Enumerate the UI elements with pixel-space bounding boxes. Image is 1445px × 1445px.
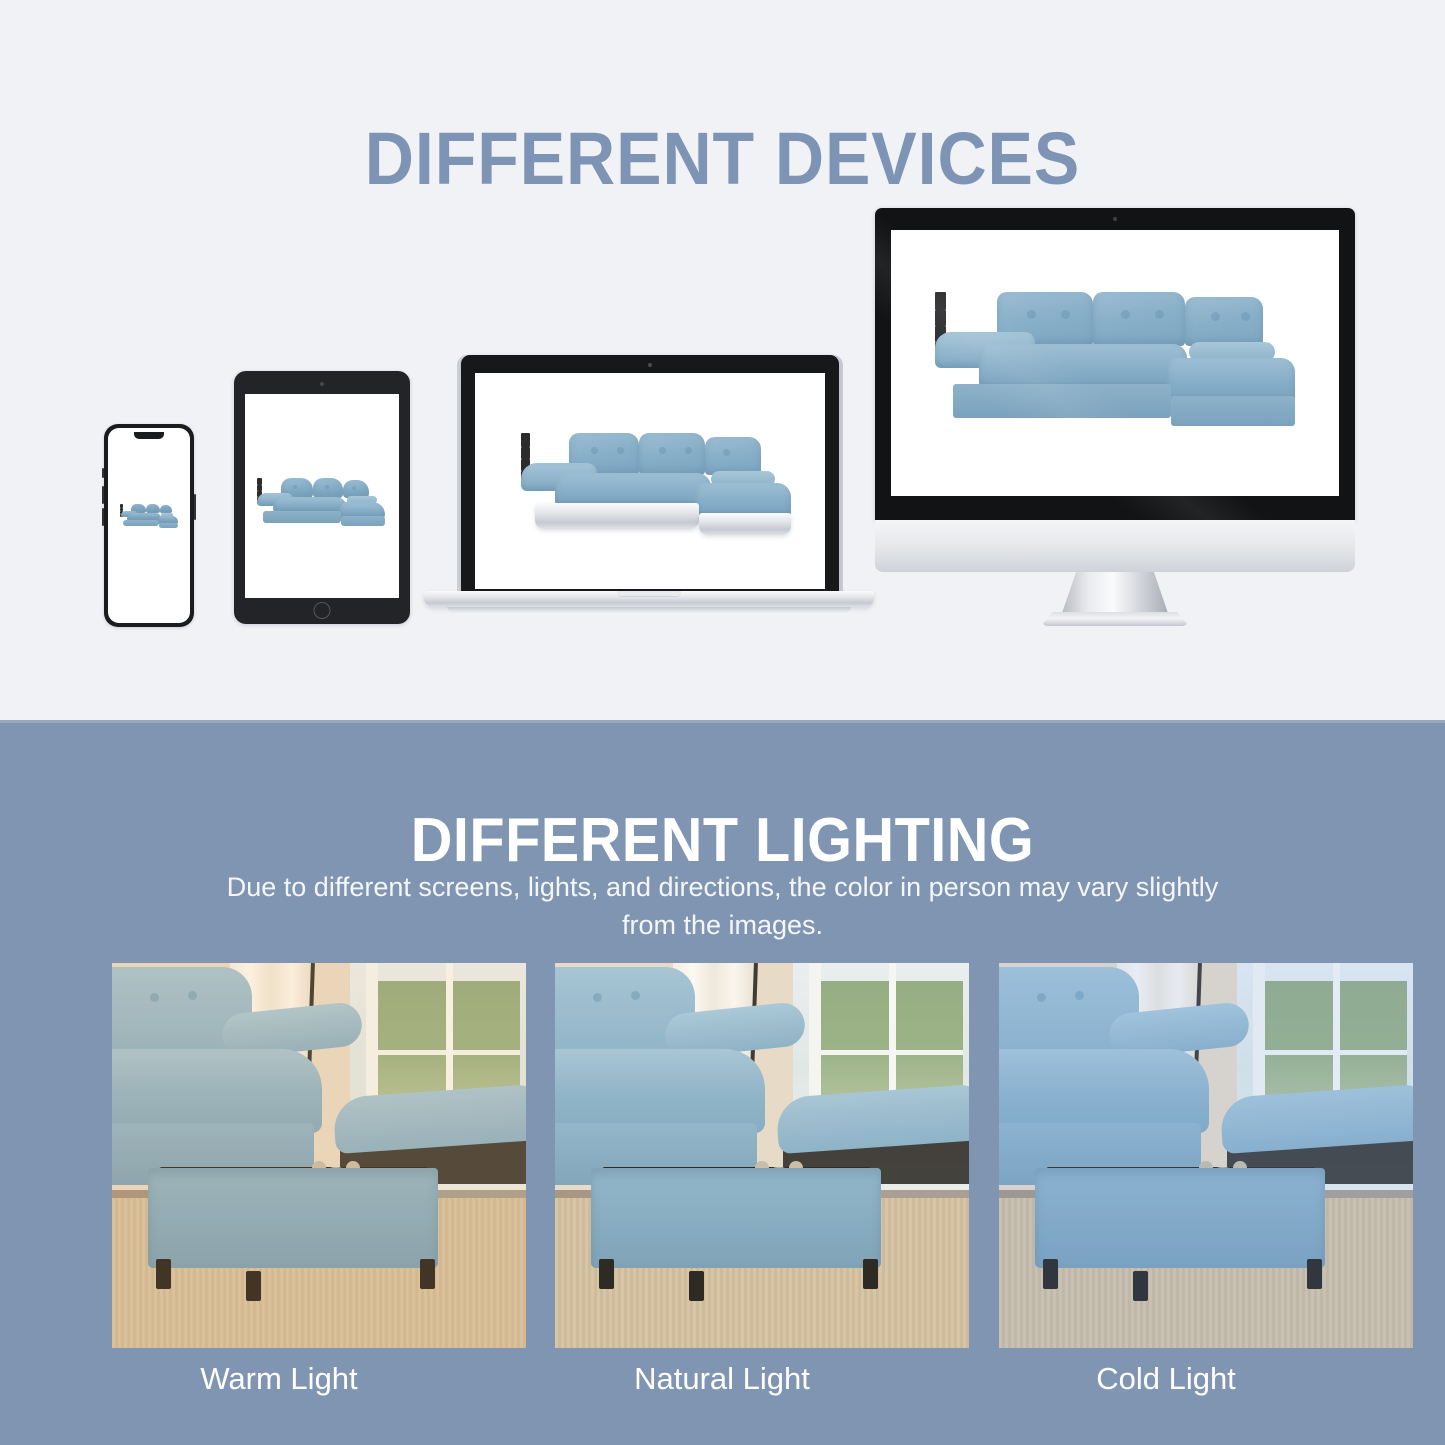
marketing-infographic: DIFFERENT DEVICES xyxy=(0,0,1445,1445)
phone-volume-up-button xyxy=(102,486,104,504)
lighting-section-title: DIFFERENT LIGHTING xyxy=(51,810,1395,872)
ottoman-leg xyxy=(246,1271,261,1301)
different-devices-section: DIFFERENT DEVICES xyxy=(0,0,1445,723)
device-desktop-monitor xyxy=(875,208,1355,628)
room-scene xyxy=(555,963,969,1348)
device-smartphone xyxy=(104,424,194,627)
monitor-camera-icon xyxy=(1113,217,1117,221)
ottoman-leg xyxy=(599,1259,614,1289)
storage-ottoman xyxy=(591,1168,881,1268)
sofa-illustration-laptop xyxy=(521,433,791,553)
ottoman-leg xyxy=(689,1271,704,1301)
phone-screen xyxy=(108,428,190,623)
phone-power-button xyxy=(194,494,196,520)
different-lighting-section: DIFFERENT LIGHTING Due to different scre… xyxy=(0,723,1445,1445)
device-tablet xyxy=(234,371,410,624)
ottoman-leg xyxy=(863,1259,878,1289)
storage-ottoman xyxy=(148,1168,438,1268)
lighting-photo-row xyxy=(72,947,1373,1332)
tablet-camera-icon xyxy=(320,382,324,386)
phone-mute-button xyxy=(102,468,104,478)
lighting-photo-natural xyxy=(555,963,969,1348)
monitor-stand-neck xyxy=(1061,572,1169,616)
lighting-photo-cold xyxy=(999,963,1413,1348)
laptop-screen xyxy=(475,373,825,589)
ottoman-leg xyxy=(156,1259,171,1289)
devices-section-title: DIFFERENT DEVICES xyxy=(58,122,1387,196)
monitor-stand-base xyxy=(1041,612,1189,626)
device-laptop xyxy=(424,355,874,625)
lighting-photo-warm xyxy=(112,963,526,1348)
monitor-screen xyxy=(891,230,1339,496)
ottoman-leg xyxy=(1307,1259,1322,1289)
laptop-camera-icon xyxy=(648,363,652,367)
phone-volume-down-button xyxy=(102,508,104,526)
caption-warm-light: Warm Light xyxy=(72,1363,486,1394)
room-scene xyxy=(112,963,526,1348)
ottoman-leg xyxy=(1043,1259,1058,1289)
room-scene xyxy=(999,963,1413,1348)
lighting-caption-row: Warm Light Natural Light Cold Light xyxy=(72,1363,1373,1413)
ottoman-leg xyxy=(1133,1271,1148,1301)
laptop-trackpad-notch xyxy=(617,591,681,597)
tablet-home-button xyxy=(314,602,331,619)
sofa-seat-cushion xyxy=(999,1049,1209,1133)
phone-notch-icon xyxy=(134,432,164,439)
laptop-hinge xyxy=(447,606,851,613)
caption-cold-light: Cold Light xyxy=(959,1363,1373,1394)
caption-natural-light: Natural Light xyxy=(515,1363,929,1394)
ottoman-leg xyxy=(420,1259,435,1289)
sofa-illustration-phone xyxy=(120,504,180,534)
sofa-seat-cushion xyxy=(555,1049,765,1133)
sofa-seat-cushion xyxy=(112,1049,322,1133)
tablet-screen xyxy=(245,394,399,598)
monitor-chin xyxy=(875,520,1355,572)
sofa-illustration-tablet xyxy=(257,478,387,536)
lighting-section-subtitle: Due to different screens, lights, and di… xyxy=(223,868,1223,945)
sofa-illustration-monitor xyxy=(935,292,1305,444)
storage-ottoman xyxy=(1035,1168,1325,1268)
